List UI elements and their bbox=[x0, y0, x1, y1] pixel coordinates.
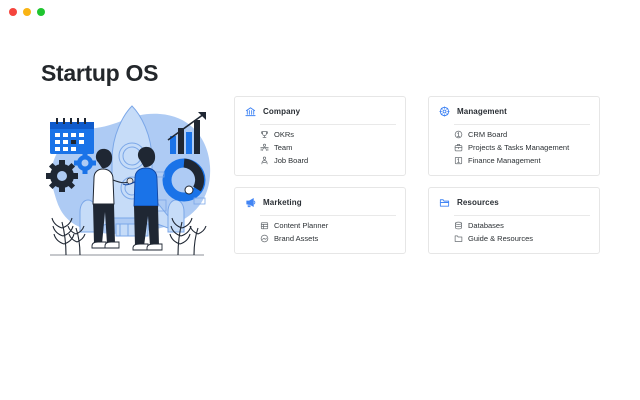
cards-grid: Company OKRs bbox=[234, 96, 614, 265]
card-management-divider bbox=[454, 124, 590, 125]
list-item-label: Projects & Tasks Management bbox=[468, 143, 569, 152]
list-item[interactable]: Guide & Resources bbox=[454, 234, 590, 243]
card-management-title: Management bbox=[457, 107, 507, 116]
card-marketing-header: Marketing bbox=[244, 196, 396, 215]
card-resources-divider bbox=[454, 215, 590, 216]
list-item-label: CRM Board bbox=[468, 130, 507, 139]
card-marketing-items: Content Planner Brand Assets bbox=[244, 221, 396, 243]
list-item[interactable]: Brand Assets bbox=[260, 234, 396, 243]
startup-team-rocket-illustration bbox=[36, 100, 218, 265]
briefcase-icon bbox=[454, 143, 463, 152]
number-one-box-icon bbox=[454, 156, 463, 165]
database-icon bbox=[454, 221, 463, 230]
app-window: Startup OS bbox=[0, 0, 640, 400]
card-company-divider bbox=[260, 124, 396, 125]
maximize-button[interactable] bbox=[37, 8, 45, 16]
list-item[interactable]: Databases bbox=[454, 221, 590, 230]
list-item-label: Guide & Resources bbox=[468, 234, 533, 243]
card-marketing-title: Marketing bbox=[263, 198, 302, 207]
list-item-label: OKRs bbox=[274, 130, 294, 139]
circle-asset-icon bbox=[260, 234, 269, 243]
folder-open-icon bbox=[439, 197, 450, 208]
list-item-label: Team bbox=[274, 143, 292, 152]
card-resources[interactable]: Resources Databases bbox=[428, 187, 600, 254]
page-title: Startup OS bbox=[41, 60, 158, 87]
card-row-1: Company OKRs bbox=[234, 96, 614, 176]
card-resources-header: Resources bbox=[438, 196, 590, 215]
list-item-label: Content Planner bbox=[274, 221, 328, 230]
card-marketing-divider bbox=[260, 215, 396, 216]
megaphone-icon bbox=[245, 197, 256, 208]
card-management[interactable]: Management CRM Board bbox=[428, 96, 600, 176]
card-company-header: Company bbox=[244, 105, 396, 124]
list-item[interactable]: Team bbox=[260, 143, 396, 152]
people-group-icon bbox=[260, 143, 269, 152]
person-icon bbox=[260, 156, 269, 165]
title-bar bbox=[0, 0, 640, 24]
list-item[interactable]: Projects & Tasks Management bbox=[454, 143, 590, 152]
list-item[interactable]: OKRs bbox=[260, 130, 396, 139]
list-item[interactable]: Content Planner bbox=[260, 221, 396, 230]
list-item[interactable]: Job Board bbox=[260, 156, 396, 165]
calendar-table-icon bbox=[260, 221, 269, 230]
card-company[interactable]: Company OKRs bbox=[234, 96, 406, 176]
bank-icon bbox=[245, 106, 256, 117]
card-management-header: Management bbox=[438, 105, 590, 124]
traffic-light-buttons bbox=[9, 8, 45, 16]
card-resources-items: Databases Guide & Resources bbox=[438, 221, 590, 243]
list-item[interactable]: CRM Board bbox=[454, 130, 590, 139]
list-item-label: Databases bbox=[468, 221, 504, 230]
list-item-label: Brand Assets bbox=[274, 234, 318, 243]
card-marketing[interactable]: Marketing Content Planner bbox=[234, 187, 406, 254]
trophy-icon bbox=[260, 130, 269, 139]
card-row-2: Marketing Content Planner bbox=[234, 187, 614, 254]
list-item[interactable]: Finance Management bbox=[454, 156, 590, 165]
list-item-label: Job Board bbox=[274, 156, 308, 165]
folder-icon bbox=[454, 234, 463, 243]
card-management-items: CRM Board Projects & Tasks Management bbox=[438, 130, 590, 165]
close-button[interactable] bbox=[9, 8, 17, 16]
gear-icon bbox=[439, 106, 450, 117]
list-item-label: Finance Management bbox=[468, 156, 541, 165]
card-company-items: OKRs Team Job Board bbox=[244, 130, 396, 165]
card-company-title: Company bbox=[263, 107, 300, 116]
circle-one-icon bbox=[454, 130, 463, 139]
card-resources-title: Resources bbox=[457, 198, 499, 207]
minimize-button[interactable] bbox=[23, 8, 31, 16]
